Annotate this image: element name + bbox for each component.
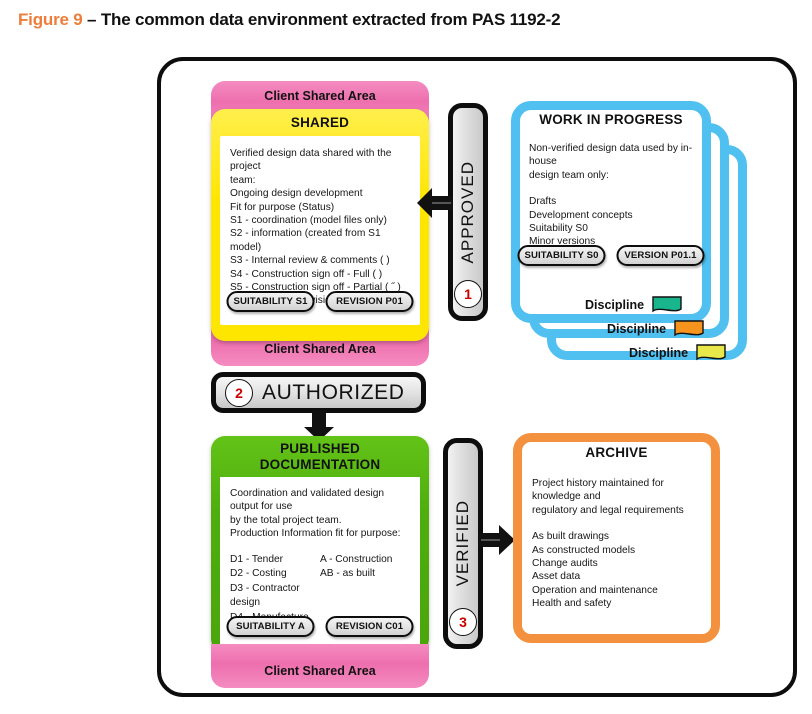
wip-title: WORK IN PROGRESS: [520, 112, 702, 128]
shared-line: S2 - information (created from S1 model): [230, 227, 410, 254]
client-shared-area-label: Client Shared Area: [264, 664, 375, 678]
shared-line: S3 - Internal review & comments ( ): [230, 254, 410, 267]
discipline-label: Discipline: [629, 346, 688, 360]
published-line: Production Information fit for purpose:: [230, 527, 410, 540]
gate-authorized-label: AUTHORIZED: [262, 381, 405, 405]
figure-caption: Figure 9 – The common data environment e…: [18, 10, 560, 30]
published-documentation-card[interactable]: PUBLISHED DOCUMENTATION Coordination and…: [211, 436, 429, 653]
published-code-column-right: A - Construction AB - as built: [320, 553, 410, 626]
step-number-2: 2: [225, 379, 253, 407]
archive-line: regulatory and legal requirements: [532, 504, 701, 517]
archive-line: As built drawings: [532, 530, 701, 543]
shared-group: Client Shared Area Client Shared Area SH…: [211, 81, 429, 366]
revision-pill[interactable]: REVISION C01: [326, 616, 414, 637]
gate-verified-label: VERIFIED: [453, 500, 473, 586]
published-title-line2: DOCUMENTATION: [220, 457, 420, 473]
wip-line: design team only:: [529, 169, 693, 182]
gate-approved-label: APPROVED: [458, 161, 478, 263]
step-number-1: 1: [454, 280, 482, 308]
published-code: AB - as built: [320, 567, 410, 582]
wip-body: Non-verified design data used by in-hous…: [520, 132, 702, 292]
wip-line: Suitability S0: [529, 222, 693, 235]
shared-line: S1 - coordination (model files only): [230, 214, 410, 227]
archive-body: Project history maintained for knowledge…: [522, 465, 711, 627]
figure-title-text: The common data environment extracted fr…: [101, 10, 561, 29]
wip-line: Drafts: [529, 195, 693, 208]
suitability-pill[interactable]: SUITABILITY S0: [518, 245, 606, 266]
shared-body: Verified design data shared with the pro…: [220, 136, 420, 325]
diagram-frame: Client Shared Area Client Shared Area SH…: [157, 57, 797, 697]
wip-pill-row: SUITABILITY S0 VERSION P01.1: [518, 245, 705, 266]
discipline-row-2: Discipline: [607, 320, 704, 338]
version-pill[interactable]: VERSION P01.1: [617, 245, 705, 266]
published-line: by the total project team.: [230, 514, 410, 527]
archive-card[interactable]: ARCHIVE Project history maintained for k…: [513, 433, 720, 643]
gate-verified[interactable]: VERIFIED 3: [443, 438, 483, 649]
published-code: D3 - Contractor design: [230, 582, 320, 611]
published-code-column-left: D1 - Tender D2 - Costing D3 - Contractor…: [230, 553, 320, 626]
figure-dash: –: [83, 10, 101, 29]
wip-line: Non-verified design data used by in-hous…: [529, 142, 693, 169]
archive-spacer: [532, 517, 701, 530]
figure-number: Figure 9: [18, 10, 83, 29]
archive-line: Change audits: [532, 557, 701, 570]
published-pill-row: SUITABILITY A REVISION C01: [227, 616, 414, 637]
discipline-label: Discipline: [585, 298, 644, 312]
shared-line: S4 - Construction sign off - Full ( ): [230, 268, 410, 281]
discipline-row-1: Discipline: [585, 296, 682, 314]
step-number-3: 3: [449, 608, 477, 636]
published-code: D2 - Costing: [230, 567, 320, 582]
revision-pill[interactable]: REVISION P01: [326, 291, 414, 312]
shared-line: Ongoing design development: [230, 187, 410, 200]
arrow-approved-to-shared-icon: [415, 183, 455, 223]
published-title: PUBLISHED DOCUMENTATION: [220, 441, 420, 473]
client-shared-area-label: Client Shared Area: [264, 89, 375, 103]
work-in-progress-group: WORK IN PROGRESS Non-verified design dat…: [511, 101, 751, 376]
archive-line: Asset data: [532, 570, 701, 583]
published-title-line1: PUBLISHED: [220, 441, 420, 457]
gate-authorized[interactable]: AUTHORIZED 2: [211, 372, 426, 413]
suitability-pill[interactable]: SUITABILITY S1: [227, 291, 315, 312]
shared-title: SHARED: [220, 115, 420, 131]
shared-line: team:: [230, 174, 410, 187]
archive-line: Project history maintained for knowledge…: [532, 477, 701, 504]
archive-line: As constructed models: [532, 544, 701, 557]
suitability-pill[interactable]: SUITABILITY A: [227, 616, 315, 637]
client-shared-area-label: Client Shared Area: [264, 342, 375, 356]
shared-line: Verified design data shared with the pro…: [230, 147, 410, 174]
shared-line: Fit for purpose (Status): [230, 201, 410, 214]
shared-pill-row: SUITABILITY S1 REVISION P01: [227, 291, 414, 312]
published-line: Coordination and validated design output…: [230, 487, 410, 514]
archive-line: Health and safety: [532, 597, 701, 610]
archive-title: ARCHIVE: [522, 445, 711, 461]
shared-card[interactable]: SHARED Verified design data shared with …: [211, 109, 429, 341]
wip-spacer: [529, 182, 693, 195]
work-in-progress-card[interactable]: WORK IN PROGRESS Non-verified design dat…: [511, 101, 711, 323]
published-code-grid: D1 - Tender D2 - Costing D3 - Contractor…: [230, 553, 410, 626]
published-documentation-group: PUBLISHED DOCUMENTATION Coordination and…: [211, 436, 429, 688]
discipline-flag-icon: [696, 344, 726, 362]
published-code: A - Construction: [320, 553, 410, 568]
published-body: Coordination and validated design output…: [220, 477, 420, 649]
arrow-verified-to-archive-icon: [479, 522, 517, 558]
discipline-label: Discipline: [607, 322, 666, 336]
discipline-row-3: Discipline: [629, 344, 726, 362]
discipline-flag-icon: [652, 296, 682, 314]
client-shared-area-bottom-band-published: Client Shared Area: [211, 644, 429, 688]
published-code: D1 - Tender: [230, 553, 320, 568]
archive-line: Operation and maintenance: [532, 584, 701, 597]
wip-line: Development concepts: [529, 209, 693, 222]
discipline-flag-icon: [674, 320, 704, 338]
